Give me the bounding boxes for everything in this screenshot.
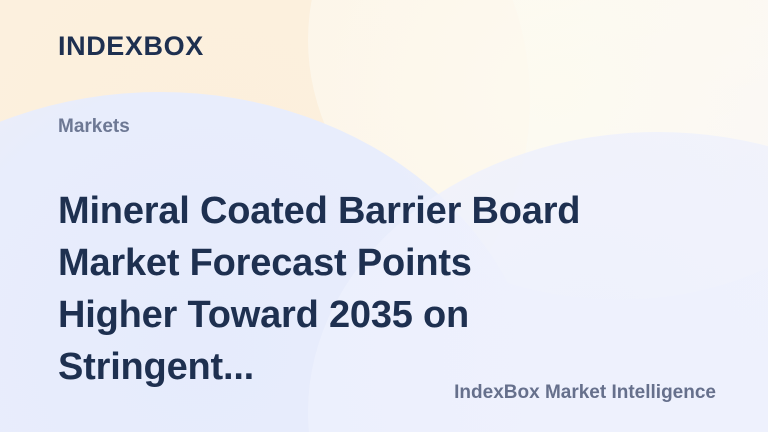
social-share-card: INDEXBOX Markets Mineral Coated Barrier … [0,0,768,432]
headline-line-2: Market Forecast Points [58,237,688,289]
card-content: INDEXBOX Markets Mineral Coated Barrier … [0,0,768,432]
source-attribution: IndexBox Market Intelligence [454,383,716,402]
headline-line-3: Higher Toward 2035 on [58,289,688,341]
headline-line-1: Mineral Coated Barrier Board [58,185,688,237]
brand-logo[interactable]: INDEXBOX [58,33,204,60]
article-headline: Mineral Coated Barrier Board Market Fore… [58,185,688,393]
article-category-label[interactable]: Markets [58,117,130,136]
